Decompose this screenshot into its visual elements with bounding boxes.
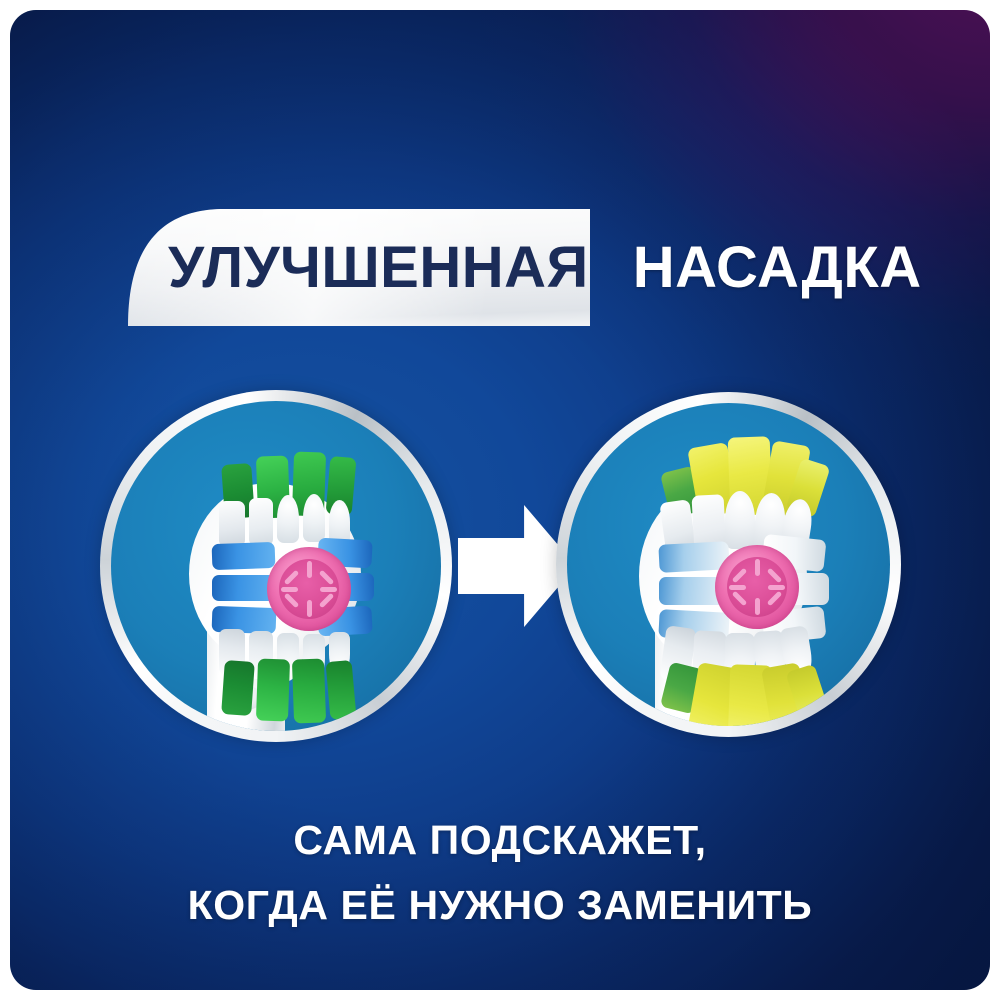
circle-inner-fill	[567, 403, 890, 726]
pink-indicator-hub	[715, 545, 799, 629]
headline-word-brushhead: НАСАДКА	[633, 239, 922, 297]
headline-text: УЛУЧШЕННАЯ НАСАДКА	[0, 209, 1000, 326]
tagline-block: САМА ПОДСКАЖЕТ, КОГДА ЕЁ НУЖНО ЗАМЕНИТЬ	[0, 808, 1000, 938]
pink-indicator-hub	[267, 547, 351, 631]
tagline-line-1: САМА ПОДСКАЖЕТ,	[293, 817, 706, 863]
circle-inner-fill	[111, 401, 441, 731]
headline-word-improved: УЛУЧШЕННАЯ	[168, 239, 589, 297]
tagline-line-2: КОГДА ЕЁ НУЖНО ЗАМЕНИТЬ	[0, 873, 1000, 938]
worn-brush-head-circle	[556, 392, 901, 737]
new-brush-head-circle	[100, 390, 452, 742]
advertisement-canvas: УЛУЧШЕННАЯ НАСАДКА	[0, 0, 1000, 1000]
